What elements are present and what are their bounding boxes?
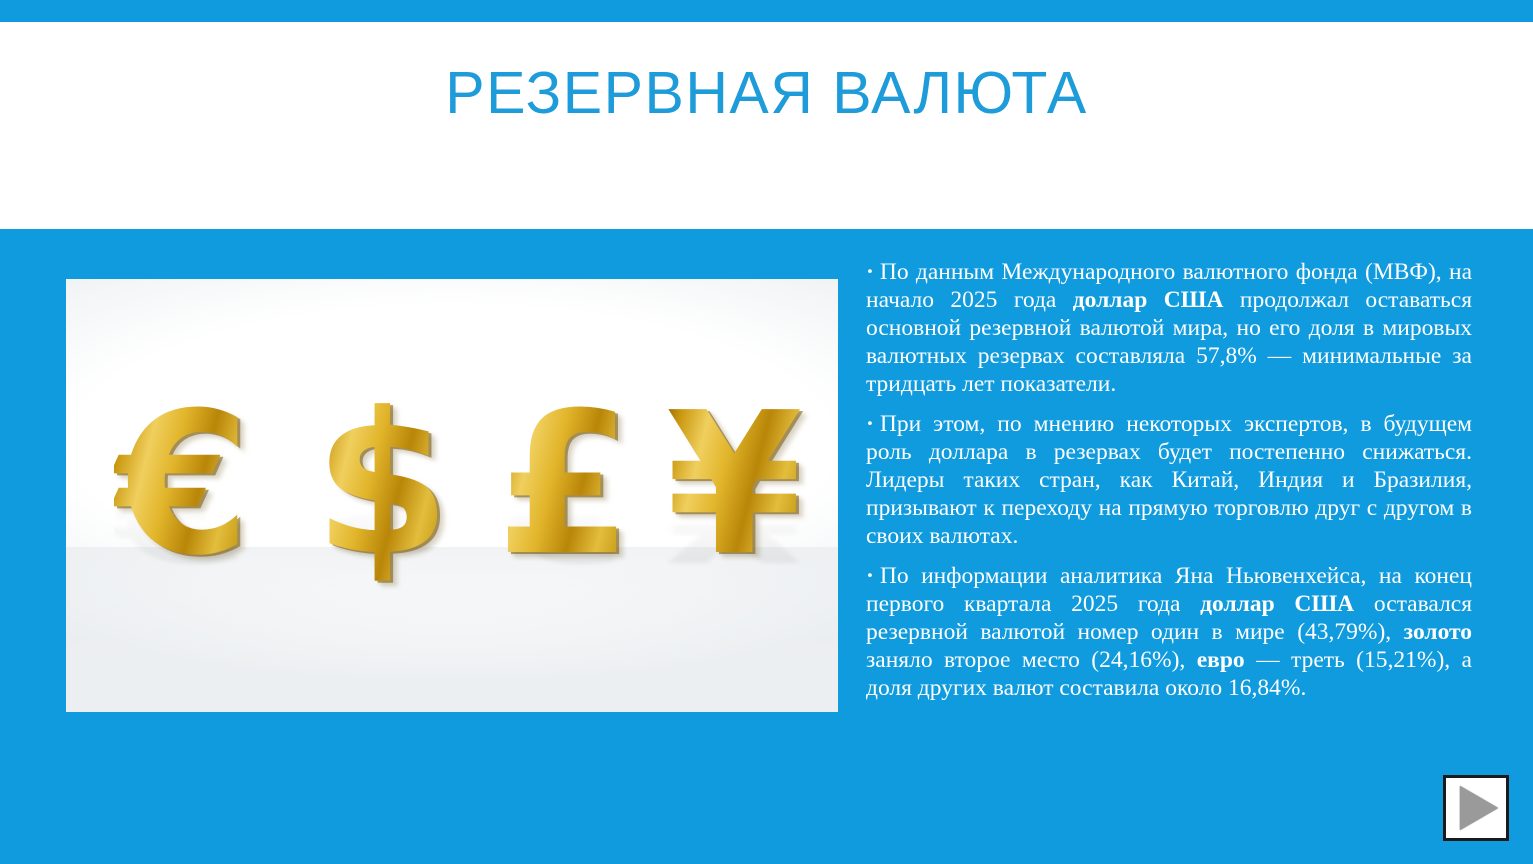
bullet-paragraph: ·По данным Международного валютного фонд… <box>866 258 1472 398</box>
emphasis-term: доллар США <box>1073 287 1224 313</box>
paragraph-text: При этом, по мнению некоторых экспертов,… <box>866 411 1472 549</box>
pound-symbol-icon: £ <box>496 387 632 583</box>
page-title: РЕЗЕРВНАЯ ВАЛЮТА <box>445 58 1088 128</box>
currency-symbols-image: € $ £ ¥ € $ £ ¥ <box>66 279 838 712</box>
content-placeholder: ·По данным Международного валютного фонд… <box>866 258 1472 702</box>
bullet-marker: · <box>866 563 880 589</box>
emphasis-term: золото <box>1404 619 1472 645</box>
next-slide-button[interactable] <box>1443 775 1509 841</box>
bullet-paragraph: ·По информации аналитика Яна Ньювенхейса… <box>866 562 1472 702</box>
yen-symbol-icon: ¥ <box>666 387 802 583</box>
presentation-slide: РЕЗЕРВНАЯ ВАЛЮТА € $ £ ¥ € $ £ ¥ ·По дан… <box>0 0 1533 864</box>
symbol-layer: € $ £ ¥ <box>66 279 838 712</box>
bullet-paragraph: ·При этом, по мнению некоторых экспертов… <box>866 410 1472 550</box>
emphasis-term: евро <box>1197 647 1245 673</box>
title-placeholder: РЕЗЕРВНАЯ ВАЛЮТА <box>0 58 1533 148</box>
paragraph-text: заняло второе место (24,16%), <box>866 647 1197 673</box>
top-accent-band <box>0 0 1533 22</box>
bullet-marker: · <box>866 411 880 437</box>
emphasis-term: доллар США <box>1200 591 1354 617</box>
dollar-symbol-icon: $ <box>314 387 450 583</box>
bullet-marker: · <box>866 259 880 285</box>
euro-symbol-icon: € <box>114 387 250 583</box>
play-triangle-icon <box>1460 786 1498 830</box>
